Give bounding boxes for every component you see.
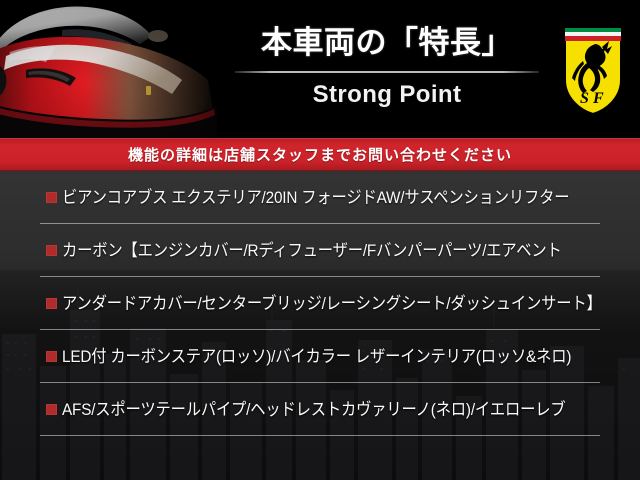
square-bullet-icon [46, 351, 57, 362]
list-divider [40, 435, 600, 436]
square-bullet-icon [46, 245, 57, 256]
ferrari-shield-logo: S F [562, 24, 624, 116]
car-photo [0, 0, 232, 138]
ferrari-shield-icon: S F [562, 24, 624, 116]
list-item-label: アンダードアカバー/センターブリッジ/レーシングシート/ダッシュインサート】 [62, 294, 602, 314]
square-bullet-icon [46, 298, 57, 309]
list-item-label: LED付 カーボンステア(ロッソ)/バイカラー レザーインテリア(ロッソ&ネロ) [62, 347, 571, 367]
list-item: AFS/スポーツテールパイプ/ヘッドレストカヴァリーノ(ネロ)/イエローレブ [0, 383, 640, 436]
header: 本車両の「特長」 Strong Point [0, 0, 640, 138]
strong-point-banner: 本車両の「特長」 Strong Point [0, 0, 640, 480]
page-subtitle: Strong Point [228, 81, 546, 109]
list-item: アンダードアカバー/センターブリッジ/レーシングシート/ダッシュインサート】 [0, 277, 640, 330]
list-item-label: カーボン【エンジンカバー/Rディフューザー/Fバンパーパーツ/エアベント [62, 241, 562, 261]
list-item-label: ビアンコアブス エクステリア/20IN フォージドAW/サスペンションリフター [62, 188, 569, 208]
list-item-label: AFS/スポーツテールパイプ/ヘッドレストカヴァリーノ(ネロ)/イエローレブ [62, 400, 565, 420]
square-bullet-icon [46, 404, 57, 415]
title-divider [235, 71, 539, 73]
title-block: 本車両の「特長」 Strong Point [228, 22, 546, 109]
notice-banner: 機能の詳細は店舗スタッフまでお問い合わせください [0, 138, 640, 171]
notice-banner-text: 機能の詳細は店舗スタッフまでお問い合わせください [128, 144, 512, 165]
list-item: LED付 カーボンステア(ロッソ)/バイカラー レザーインテリア(ロッソ&ネロ) [0, 330, 640, 383]
shield-letters: S [580, 90, 589, 107]
list-item: カーボン【エンジンカバー/Rディフューザー/Fバンパーパーツ/エアベント [0, 224, 640, 277]
square-bullet-icon [46, 192, 57, 203]
features-section: ビアンコアブス エクステリア/20IN フォージドAW/サスペンションリフター … [0, 171, 640, 480]
feature-list: ビアンコアブス エクステリア/20IN フォージドAW/サスペンションリフター … [0, 171, 640, 436]
list-item: ビアンコアブス エクステリア/20IN フォージドAW/サスペンションリフター [0, 171, 640, 224]
ferrari-sf90-illustration [0, 0, 232, 138]
shield-letters-2: F [592, 90, 604, 107]
page-title: 本車両の「特長」 [228, 22, 546, 64]
